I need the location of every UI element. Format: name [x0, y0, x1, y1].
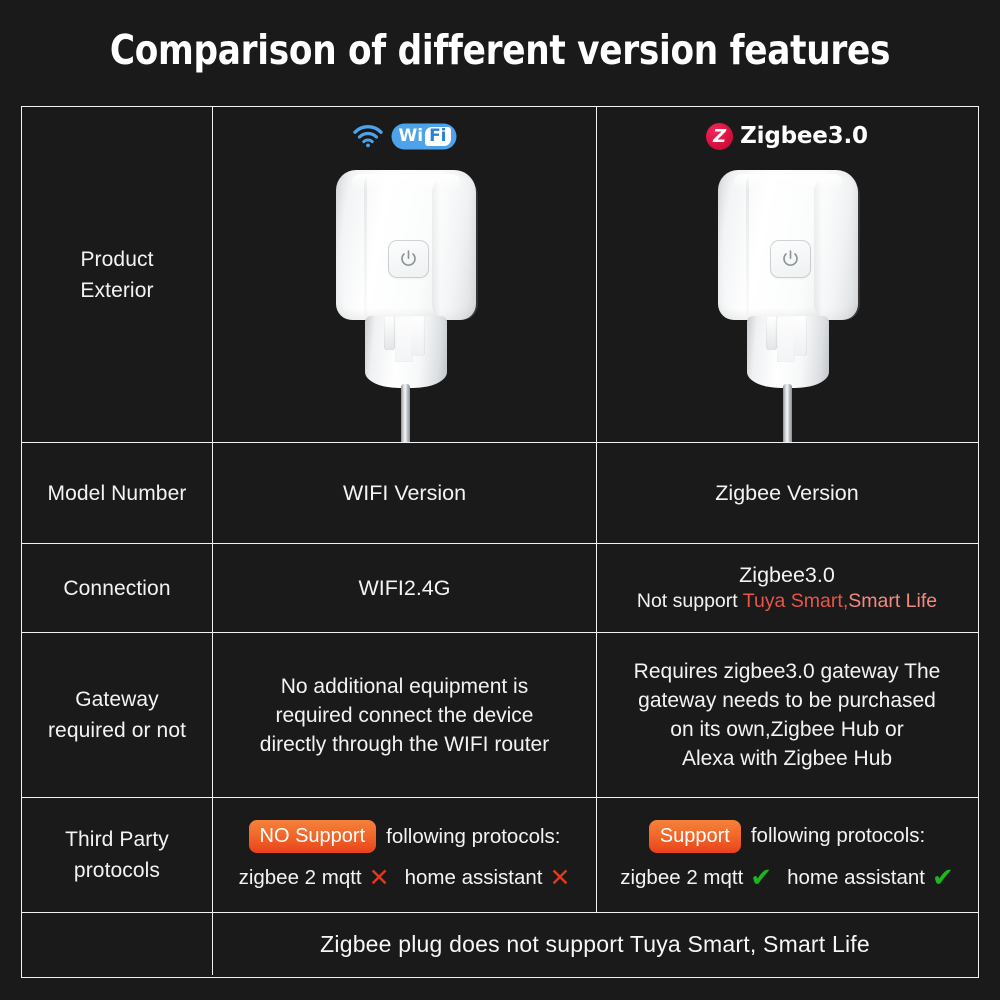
cell-wifi-product-exterior: Wi Fi	[213, 107, 597, 442]
wifi-badge: Wi Fi	[392, 124, 455, 149]
smart-plug-photo-zigbee	[712, 170, 862, 416]
power-button-wifi[interactable]	[388, 240, 429, 278]
check-icon: ✔	[932, 865, 954, 891]
protocol-home-assistant-wifi: home assistant	[405, 866, 543, 890]
power-button-zigbee[interactable]	[770, 240, 811, 278]
row-label-model-number: Model Number	[22, 443, 213, 543]
tuya-smart-text: Tuya Smart	[743, 590, 843, 612]
cell-wifi-connection: WIFI2.4G	[213, 544, 597, 632]
cell-wifi-third-party: NO Support following protocols: zigbee 2…	[213, 798, 597, 912]
check-icon: ✔	[750, 865, 772, 891]
table-row-footer-note: Zigbee plug does not support Tuya Smart,…	[22, 913, 978, 975]
row-label-gateway: Gateway required or not	[22, 633, 213, 797]
cross-icon: ✕	[369, 865, 390, 890]
comparison-table: Product Exterior Wi Fi	[21, 106, 979, 978]
cell-wifi-gateway: No additional equipment is required conn…	[213, 633, 597, 797]
smart-plug-photo-wifi	[330, 170, 480, 416]
wifi-logo: Wi Fi	[213, 119, 596, 153]
cross-icon: ✕	[549, 865, 570, 890]
footer-empty-cell	[22, 913, 213, 975]
page-title: Comparison of different version features	[35, 26, 965, 74]
table-row-model-number: Model Number WIFI Version Zigbee Version	[22, 443, 978, 544]
wifi-badge-fi: Fi	[425, 127, 450, 146]
zigbee-logo: Z Zigbee3.0	[597, 119, 977, 153]
zigbee-z-logo-icon: Z	[706, 123, 733, 150]
support-badge: Support	[649, 820, 741, 853]
row-label-line1: Product	[80, 244, 153, 275]
protocol-zigbee2mqtt-zigbee: zigbee 2 mqtt	[620, 866, 743, 890]
table-row-connection: Connection WIFI2.4G Zigbee3.0 Not suppor…	[22, 544, 978, 633]
cell-zigbee-third-party: Support following protocols: zigbee 2 mq…	[597, 798, 977, 912]
row-label-line2: Exterior	[80, 275, 153, 306]
power-icon	[399, 249, 418, 268]
cell-zigbee-model-number: Zigbee Version	[597, 443, 977, 543]
cell-zigbee-connection: Zigbee3.0 Not support Tuya Smart,Smart L…	[597, 544, 977, 632]
protocol-zigbee2mqtt-wifi: zigbee 2 mqtt	[239, 866, 362, 890]
row-label-connection: Connection	[22, 544, 213, 632]
zigbee-logo-label: Zigbee3.0	[740, 123, 868, 149]
zigbee-connection-unsupported-apps: Not support Tuya Smart,Smart Life	[637, 590, 937, 613]
comparison-infographic: Comparison of different version features…	[0, 0, 1000, 1000]
table-row-gateway: Gateway required or not No additional eq…	[22, 633, 978, 798]
row-label-third-party: Third Party protocols	[22, 798, 213, 912]
cell-zigbee-gateway: Requires zigbee3.0 gateway The gateway n…	[597, 633, 977, 797]
row-label-product-exterior: Product Exterior	[22, 107, 213, 442]
zigbee-connection-version: Zigbee3.0	[739, 563, 835, 588]
smart-life-text: Smart Life	[848, 590, 937, 612]
table-row-product-exterior: Product Exterior Wi Fi	[22, 107, 978, 443]
protocol-home-assistant-zigbee: home assistant	[787, 866, 925, 890]
table-row-third-party-protocols: Third Party protocols NO Support followi…	[22, 798, 978, 913]
footer-note: Zigbee plug does not support Tuya Smart,…	[213, 913, 977, 975]
power-icon	[781, 249, 800, 268]
cell-wifi-model-number: WIFI Version	[213, 443, 597, 543]
wifi-signal-icon	[353, 124, 383, 148]
cell-zigbee-product-exterior: Z Zigbee3.0	[597, 107, 977, 442]
no-support-badge: NO Support	[249, 820, 377, 853]
wifi-badge-wi: Wi	[398, 128, 425, 145]
